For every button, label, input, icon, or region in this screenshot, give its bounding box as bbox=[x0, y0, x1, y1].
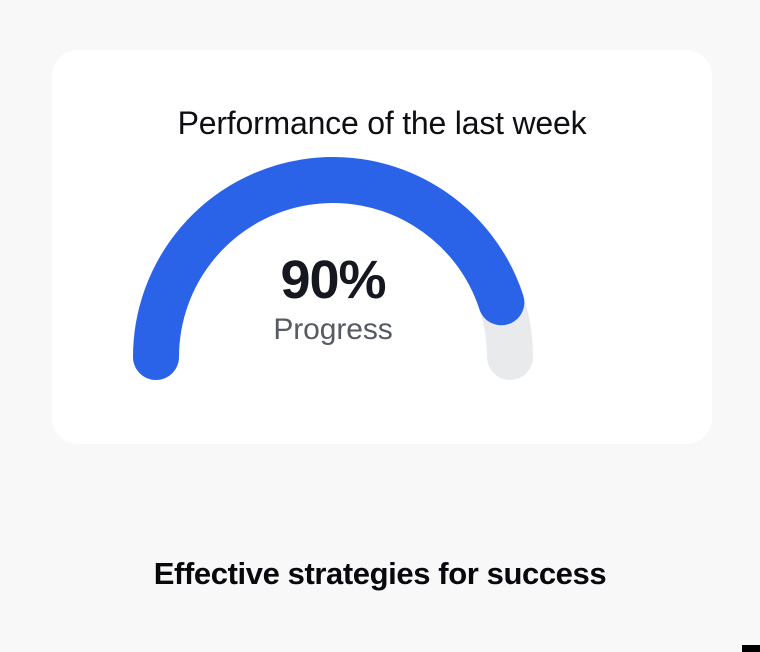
bottom-heading: Effective strategies for success bbox=[0, 552, 760, 596]
gauge-chart bbox=[127, 155, 539, 380]
corner-artifact bbox=[742, 645, 760, 652]
gauge-svg bbox=[127, 155, 539, 380]
gauge-progress-arc bbox=[156, 180, 501, 357]
performance-card: Performance of the last week 90% Progres… bbox=[52, 50, 712, 444]
app-root: Performance of the last week 90% Progres… bbox=[0, 0, 760, 652]
page-title: Performance of the last week bbox=[52, 103, 712, 143]
